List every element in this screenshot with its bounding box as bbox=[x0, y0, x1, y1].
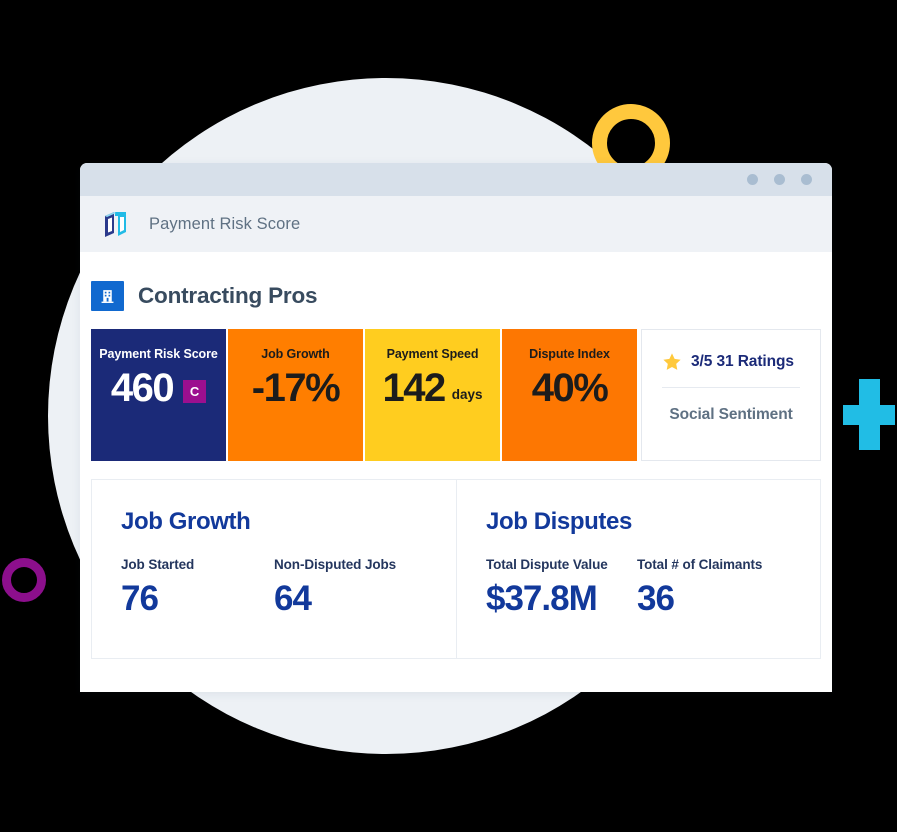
panel-job-disputes: Job Disputes Total Dispute Value $37.8M … bbox=[456, 480, 820, 658]
window-controls bbox=[747, 174, 812, 185]
metric-non-disputed-jobs: Non-Disputed Jobs 64 bbox=[274, 557, 396, 618]
detail-panels: Job Growth Job Started 76 Non-Disputed J… bbox=[91, 479, 821, 659]
grade-badge: C bbox=[183, 380, 206, 403]
kpi-card-payment-risk-score[interactable]: Payment Risk Score 460 C bbox=[91, 329, 226, 461]
building-icon bbox=[91, 281, 124, 311]
kpi-label: Dispute Index bbox=[529, 347, 610, 361]
metric-label: Total # of Claimants bbox=[637, 557, 762, 572]
kpi-value-row: 40% bbox=[532, 367, 608, 409]
kpi-card-dispute-index[interactable]: Dispute Index 40% bbox=[502, 329, 637, 461]
metric-total-claimants: Total # of Claimants 36 bbox=[637, 557, 762, 618]
cyan-plus-decoration bbox=[843, 379, 895, 450]
company-header: Contracting Pros bbox=[91, 276, 821, 329]
payment-risk-score-logo-icon bbox=[99, 207, 133, 241]
window-dot-3[interactable] bbox=[801, 174, 812, 185]
social-sentiment-label: Social Sentiment bbox=[662, 406, 800, 424]
kpi-value: 40% bbox=[532, 367, 608, 409]
kpi-card-job-growth[interactable]: Job Growth -17% bbox=[228, 329, 363, 461]
app-header-bar: Payment Risk Score bbox=[80, 196, 832, 252]
metric-value: 64 bbox=[274, 581, 396, 618]
window-dot-2[interactable] bbox=[774, 174, 785, 185]
app-window: Payment Risk Score Contracting Pros bbox=[80, 163, 832, 692]
kpi-unit: days bbox=[452, 387, 483, 402]
metric-total-dispute-value: Total Dispute Value $37.8M bbox=[486, 557, 637, 618]
metric-job-started: Job Started 76 bbox=[121, 557, 274, 618]
window-titlebar bbox=[80, 163, 832, 196]
metric-row: Job Started 76 Non-Disputed Jobs 64 bbox=[121, 557, 456, 618]
kpi-value-row: 460 C bbox=[111, 367, 206, 409]
social-sentiment-card: 3/5 31 Ratings Social Sentiment bbox=[641, 329, 821, 461]
kpi-label: Payment Speed bbox=[387, 347, 479, 361]
company-name: Contracting Pros bbox=[138, 283, 317, 309]
kpi-label: Payment Risk Score bbox=[99, 347, 217, 361]
kpi-value: 460 bbox=[111, 367, 173, 409]
kpi-value: -17% bbox=[252, 367, 339, 409]
rating-text: 3/5 31 Ratings bbox=[691, 353, 794, 371]
purple-ring-decoration bbox=[2, 558, 46, 602]
metric-label: Non-Disputed Jobs bbox=[274, 557, 396, 572]
rating-row[interactable]: 3/5 31 Ratings bbox=[662, 352, 800, 388]
kpi-strip: Payment Risk Score 460 C Job Growth -17%… bbox=[91, 329, 821, 461]
panel-job-growth: Job Growth Job Started 76 Non-Disputed J… bbox=[92, 480, 456, 658]
panel-title: Job Growth bbox=[121, 508, 456, 536]
window-content: Contracting Pros Payment Risk Score 460 … bbox=[80, 252, 832, 659]
kpi-card-payment-speed[interactable]: Payment Speed 142 days bbox=[365, 329, 500, 461]
metric-value: 36 bbox=[637, 581, 762, 618]
panel-title: Job Disputes bbox=[486, 508, 820, 536]
metric-label: Total Dispute Value bbox=[486, 557, 637, 572]
kpi-value-row: -17% bbox=[252, 367, 339, 409]
cyan-plus-vertical-bar bbox=[859, 379, 880, 450]
kpi-value: 142 bbox=[382, 367, 444, 409]
app-title: Payment Risk Score bbox=[149, 215, 300, 234]
metric-value: $37.8M bbox=[486, 581, 637, 618]
kpi-label: Job Growth bbox=[261, 347, 329, 361]
star-icon bbox=[662, 352, 682, 372]
screenshot-stage: Payment Risk Score Contracting Pros bbox=[0, 0, 897, 832]
window-dot-1[interactable] bbox=[747, 174, 758, 185]
metric-label: Job Started bbox=[121, 557, 274, 572]
metric-row: Total Dispute Value $37.8M Total # of Cl… bbox=[486, 557, 820, 618]
metric-value: 76 bbox=[121, 581, 274, 618]
kpi-value-row: 142 days bbox=[382, 367, 482, 409]
